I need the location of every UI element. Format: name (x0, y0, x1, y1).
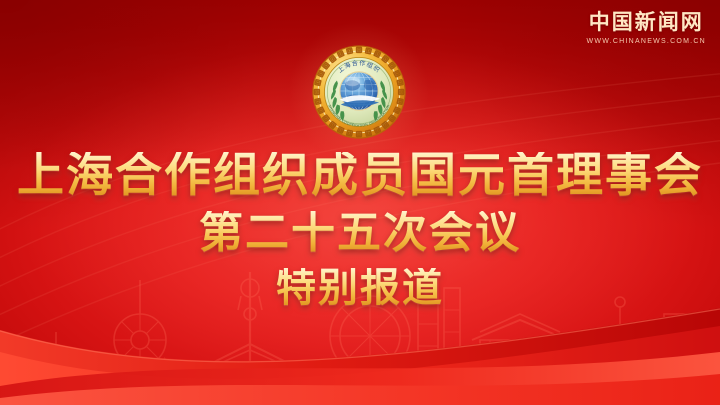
title-line-1: 上海合作组织成员国元首理事会 (0, 152, 720, 199)
logo-name: 中国新闻网 (587, 12, 707, 33)
title-line-2: 第二十五次会议 (0, 211, 720, 255)
chinanews-logo[interactable]: 中国新闻网 WWW.CHINANEWS.COM.CN (587, 12, 707, 45)
title-line-3: 特别报道 (0, 268, 720, 308)
logo-url: WWW.CHINANEWS.COM.CN (587, 38, 707, 45)
sco-emblem: 上海合作组织 SHANGHAI COOPERATION ORGANISATION (311, 44, 407, 140)
banner-graphic: 上海合作组织 SHANGHAI COOPERATION ORGANISATION (0, 0, 720, 405)
title-block: 上海合作组织成员国元首理事会 第二十五次会议 特别报道 (0, 152, 720, 308)
